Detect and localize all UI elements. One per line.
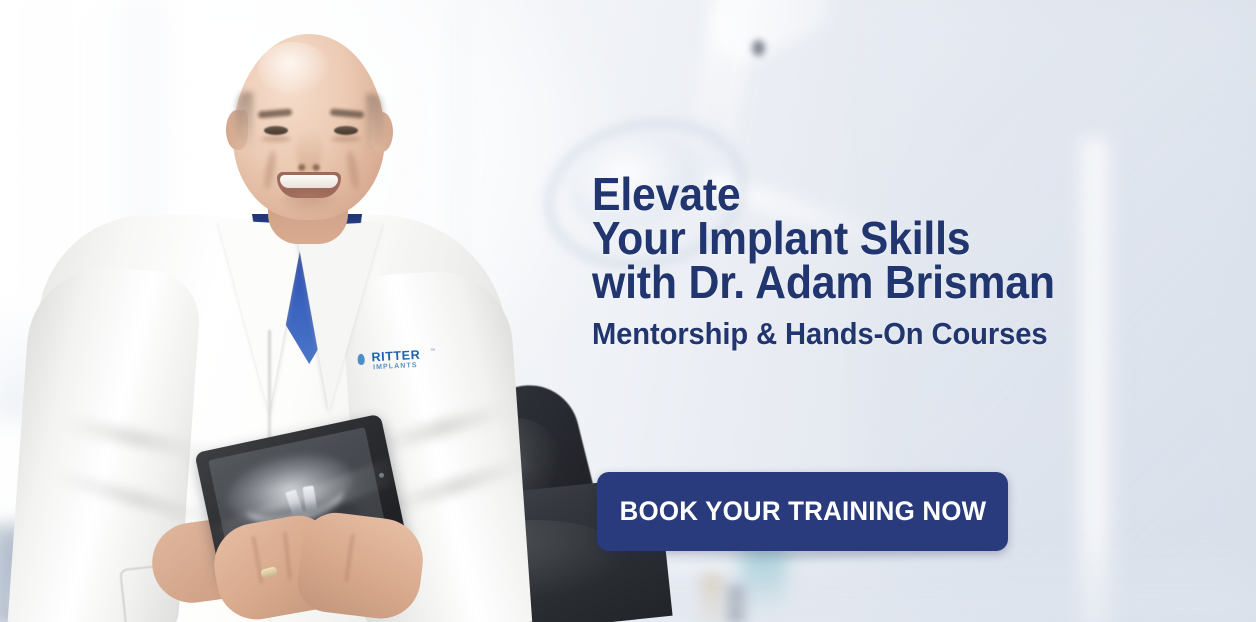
logo-trademark-icon: ™ (430, 348, 435, 354)
lab-coat-left-lapel (207, 220, 305, 414)
head-highlight (258, 42, 330, 96)
dental-lamp-tip (752, 40, 765, 56)
promo-banner: RITTER ™ IMPLANTS Elevate (0, 0, 1256, 622)
right-eye (334, 126, 358, 135)
book-training-button-label: BOOK YOUR TRAINING NOW (619, 496, 986, 527)
lab-coat-right-lapel (295, 222, 393, 412)
left-eye-crease (261, 136, 291, 142)
book-training-button[interactable]: BOOK YOUR TRAINING NOW (597, 472, 1008, 551)
ritter-implants-logo: RITTER ™ IMPLANTS (354, 347, 440, 383)
copy-block: Elevate Your Implant Skills with Dr. Ada… (592, 172, 1152, 351)
subheadline: Mentorship & Hands-On Courses (592, 317, 1118, 351)
left-eye (264, 126, 288, 135)
left-sideburn (235, 92, 253, 146)
right-sideburn (366, 94, 384, 148)
dentist-portrait: RITTER ™ IMPLANTS (0, 0, 620, 622)
ritter-tooth-icon (354, 353, 369, 368)
teeth (280, 175, 338, 188)
chin-shadow (276, 192, 342, 214)
headline-line-3: with Dr. Adam Brisman (592, 260, 1113, 304)
right-eye-crease (331, 136, 361, 142)
nostrils (296, 164, 322, 171)
headline-line-2: Your Implant Skills (592, 216, 1113, 260)
logo-subtext: IMPLANTS (373, 362, 418, 371)
headline: Elevate Your Implant Skills with Dr. Ada… (592, 172, 1113, 304)
headline-line-1: Elevate (592, 172, 1113, 216)
